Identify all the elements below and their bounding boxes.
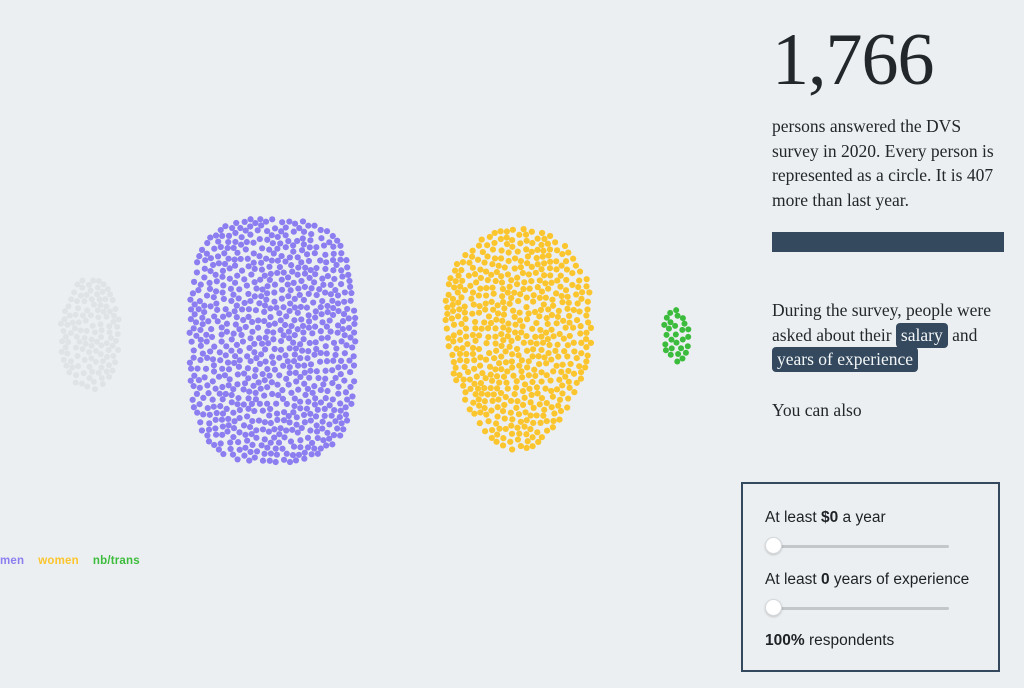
salary-value: $0: [821, 509, 838, 526]
experience-slider-track[interactable]: [767, 607, 949, 610]
salary-slider[interactable]: [765, 537, 949, 555]
legend-item-women[interactable]: women: [38, 555, 79, 567]
intro-middle-text: and: [948, 325, 978, 345]
legend-item-men[interactable]: men: [0, 555, 24, 567]
respondents-readout: 100% respondents: [765, 630, 976, 652]
experience-value: 0: [821, 571, 830, 588]
obscured-paragraph: You can also: [772, 398, 1008, 423]
experience-slider-handle[interactable]: [765, 599, 782, 616]
total-respondents-number: 1,766: [772, 18, 1008, 102]
blob-women[interactable]: [440, 223, 597, 456]
legend: men women nb/trans: [0, 555, 140, 567]
salary-label-suffix: a year: [838, 509, 885, 526]
headline-paragraph: persons answered the DVS survey in 2020.…: [772, 114, 1008, 212]
salary-slider-track[interactable]: [767, 545, 949, 548]
scroll-progress-bar[interactable]: [772, 232, 1004, 252]
text-column: 1,766 persons answered the DVS survey in…: [772, 18, 1008, 422]
visualization-stage: men women nb/trans 1,766 persons answere…: [0, 0, 1024, 688]
intro-paragraph: During the survey, people were asked abo…: [772, 298, 1008, 372]
experience-filter-label: At least 0 years of experience: [765, 568, 976, 592]
experience-label-prefix: At least: [765, 571, 821, 588]
salary-slider-handle[interactable]: [765, 537, 782, 554]
respondents-label: respondents: [805, 632, 895, 649]
experience-slider[interactable]: [765, 599, 949, 617]
salary-label-prefix: At least: [765, 509, 821, 526]
experience-label-suffix: years of experience: [830, 571, 970, 588]
blob-men[interactable]: [184, 213, 361, 468]
filter-control-panel[interactable]: At least $0 a year At least 0 years of e…: [741, 482, 1000, 672]
respondents-percent: 100%: [765, 632, 805, 649]
blob-nb-trans[interactable]: [658, 305, 694, 367]
highlight-salary[interactable]: salary: [896, 323, 948, 348]
legend-item-nb-trans[interactable]: nb/trans: [93, 555, 140, 567]
highlight-years-of-experience[interactable]: years of experience: [772, 347, 918, 372]
blob-unspecified[interactable]: [55, 273, 125, 395]
salary-filter-label: At least $0 a year: [765, 506, 976, 530]
